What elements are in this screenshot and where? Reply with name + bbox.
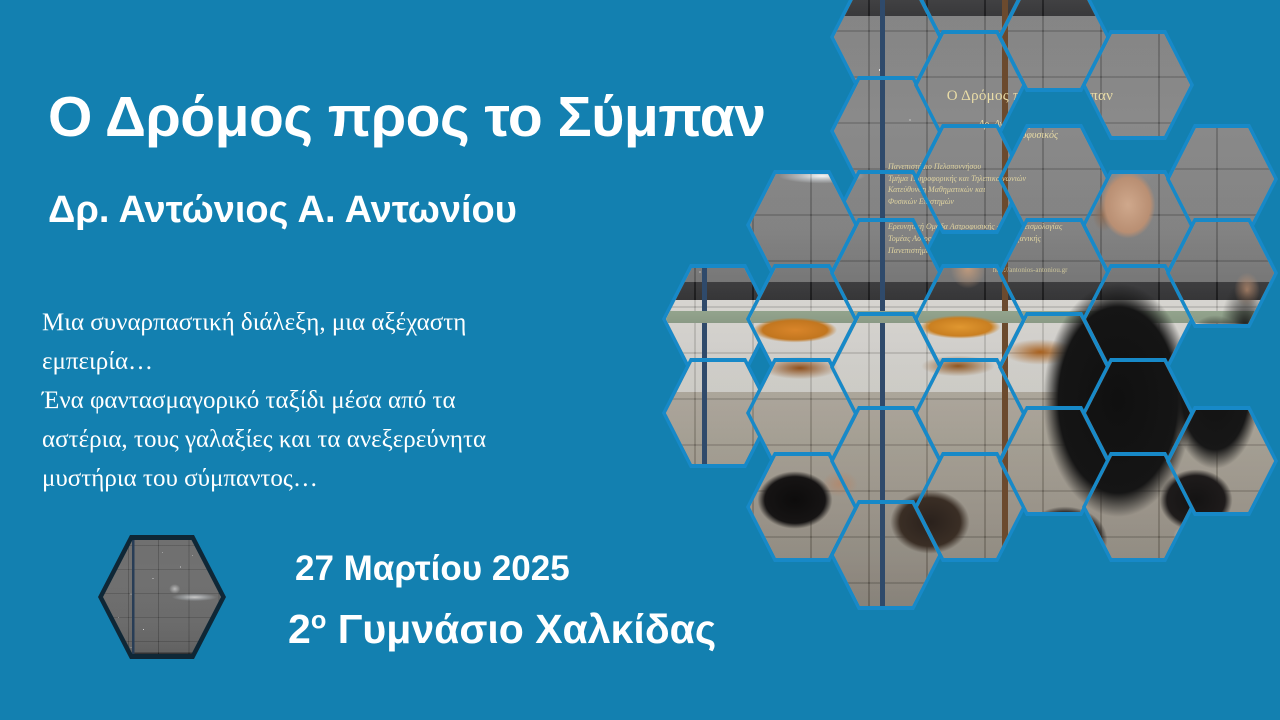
hex-photo-clip: Ο Δρόμος προς το ΣύμπανΔρ. Αντώνιος Α. Α…	[834, 316, 938, 418]
speaker-name: Δρ. Αντώνιος Α. Αντωνίου	[48, 190, 517, 232]
slide-affiliation-2: Ερευνητική Ομάδα Αστροφυσικής - Αστροσει…	[918, 221, 1022, 230]
hex-border	[1082, 264, 1194, 374]
hex-photo-clip: Ο Δρόμος προς το ΣύμπανΔρ. Αντώνιος Α. Α…	[834, 0, 938, 88]
slide-url: http://antonios-antoniou.gr	[1170, 266, 1180, 274]
hex-photo-image: Ο Δρόμος προς το ΣύμπανΔρ. Αντώνιος Α. Α…	[750, 174, 854, 276]
hex-photo-image: Ο Δρόμος προς το ΣύμπανΔρ. Αντώνιος Α. Α…	[750, 362, 854, 464]
projected-slide-text: Ο Δρόμος προς το ΣύμπανΔρ. Αντώνιος Α. Α…	[1170, 128, 1180, 230]
projected-slide-text: Ο Δρόμος προς το ΣύμπανΔρ. Αντώνιος Α. Α…	[918, 128, 1022, 230]
hex-photo-clip: Ο Δρόμος προς το ΣύμπανΔρ. Αντώνιος Α. Α…	[1002, 0, 1106, 88]
projected-slide-text: Ο Δρόμος προς το ΣύμπανΔρ. Αντώνιος Α. Α…	[1002, 222, 1106, 274]
hex-photo-clip: Ο Δρόμος προς το ΣύμπανΔρ. Αντώνιος Α. Α…	[1170, 410, 1274, 512]
slide-url: http://antonios-antoniou.gr	[918, 268, 1022, 274]
description-line-3: Ένα φαντασμαγορικό ταξίδι μέσα από τα	[42, 381, 602, 420]
projected-slide-text: Ο Δρόμος προς το ΣύμπανΔρ. Αντώνιος Α. Α…	[1170, 222, 1180, 274]
hex-photo-clip: Ο Δρόμος προς το ΣύμπανΔρ. Αντώνιος Α. Α…	[1002, 316, 1106, 418]
description-line-5: μυστήρια του σύμπαντος…	[42, 459, 602, 498]
tile-chair-orange-2: Ο Δρόμος προς το ΣύμπανΔρ. Αντώνιος Α. Α…	[830, 312, 942, 422]
slide-title: Ο Δρόμος προς το Σύμπαν	[1086, 88, 1180, 105]
hex-border	[998, 406, 1110, 516]
hex-border	[830, 76, 942, 186]
hex-photo-clip: Ο Δρόμος προς το ΣύμπανΔρ. Αντώνιος Α. Α…	[1002, 222, 1106, 324]
page-title: Ο Δρόμος προς το Σύμπαν	[48, 88, 688, 147]
hex-photo-image: Ο Δρόμος προς το ΣύμπανΔρ. Αντώνιος Α. Α…	[918, 268, 1022, 370]
hex-photo-image: Ο Δρόμος προς το ΣύμπανΔρ. Αντώνιος Α. Α…	[834, 222, 938, 324]
hex-photo-image: Ο Δρόμος προς το ΣύμπανΔρ. Αντώνιος Α. Α…	[1086, 268, 1190, 370]
description-paragraph: Μια συναρπαστική διάλεξη, μια αξέχαστη ε…	[42, 303, 602, 498]
slide-role: Αστροφυσικός	[1002, 130, 1106, 141]
slide-url: http://antonios-antoniou.gr	[1002, 266, 1106, 274]
hex-border	[830, 500, 942, 610]
hex-photo-image: Ο Δρόμος προς το ΣύμπανΔρ. Αντώνιος Α. Α…	[1170, 410, 1274, 512]
hex-border	[998, 124, 1110, 234]
hex-photo-clip: Ο Δρόμος προς το ΣύμπανΔρ. Αντώνιος Α. Α…	[1086, 174, 1190, 276]
tile-floor-mid: Ο Δρόμος προς το ΣύμπανΔρ. Αντώνιος Α. Α…	[914, 358, 1026, 468]
tile-floor-lower: Ο Δρόμος προς το ΣύμπανΔρ. Αντώνιος Α. Α…	[830, 406, 942, 516]
hex-border	[1082, 358, 1194, 468]
slide-affiliation: Πανεπιστήμιο Πελοποννήσου Τμήμα Πληροφορ…	[1170, 161, 1180, 207]
hex-photo-image: Ο Δρόμος προς το ΣύμπανΔρ. Αντώνιος Α. Α…	[1002, 410, 1106, 512]
slide-affiliation: Πανεπιστήμιο Πελοποννήσου Τμήμα Πληροφορ…	[1002, 161, 1106, 207]
hex-border	[830, 0, 942, 92]
hex-photo-image: Ο Δρόμος προς το ΣύμπανΔρ. Αντώνιος Α. Α…	[834, 0, 938, 88]
tile-presenter-head: Ο Δρόμος προς το ΣύμπανΔρ. Αντώνιος Α. Α…	[998, 124, 1110, 234]
hex-border	[746, 264, 858, 374]
hex-photo-image: Ο Δρόμος προς το ΣύμπανΔρ. Αντώνιος Α. Α…	[918, 456, 1022, 558]
projected-slide-text: Ο Δρόμος προς το ΣύμπανΔρ. Αντώνιος Α. Α…	[918, 268, 1022, 274]
tile-presenter-arm: Ο Δρόμος προς το ΣύμπανΔρ. Αντώνιος Α. Α…	[1082, 264, 1194, 374]
hex-photo-clip: Ο Δρόμος προς το ΣύμπανΔρ. Αντώνιος Α. Α…	[834, 80, 938, 182]
hex-border	[998, 312, 1110, 422]
hex-photo-image: Ο Δρόμος προς το ΣύμπανΔρ. Αντώνιος Α. Α…	[1086, 34, 1190, 136]
hex-border	[914, 264, 1026, 374]
hex-border	[998, 0, 1110, 92]
slide-role: Αστροφυσικός	[918, 130, 1022, 136]
poster-canvas: Ο Δρόμος προς το ΣύμπανΔρ. Αντώνιος Α. Α…	[0, 0, 1280, 720]
hex-photo-clip: Ο Δρόμος προς το ΣύμπανΔρ. Αντώνιος Α. Α…	[750, 268, 854, 370]
slide-url: http://antonios-antoniou.gr	[1086, 268, 1180, 274]
hex-photo-image: Ο Δρόμος προς το ΣύμπανΔρ. Αντώνιος Α. Α…	[1086, 362, 1190, 464]
hex-photo-image: Ο Δρόμος προς το ΣύμπανΔρ. Αντώνιος Α. Α…	[918, 34, 1022, 136]
hex-border	[746, 452, 858, 562]
hex-photo-clip: Ο Δρόμος προς το ΣύμπανΔρ. Αντώνιος Α. Α…	[1002, 410, 1106, 512]
hex-photo-clip: Ο Δρόμος προς το ΣύμπανΔρ. Αντώνιος Α. Α…	[1170, 128, 1274, 230]
hex-photo-clip: Ο Δρόμος προς το ΣύμπανΔρ. Αντώνιος Α. Α…	[834, 504, 938, 606]
hex-border	[1082, 30, 1194, 140]
tile-screen-top-left: Ο Δρόμος προς το ΣύμπανΔρ. Αντώνιος Α. Α…	[830, 0, 942, 92]
description-line-2: εμπειρία…	[42, 342, 602, 381]
badge-photo-image: Ο Δρόμος προς το ΣύμπανΔρ. Αντώνιος Α. Α…	[103, 540, 221, 654]
tile-chair-orange: Ο Δρόμος προς το ΣύμπανΔρ. Αντώνιος Α. Α…	[746, 358, 858, 468]
slide-author: Δρ. Αντώνιος Α. Αντωνίου	[918, 119, 1022, 130]
hex-photo-image: Ο Δρόμος προς το ΣύμπανΔρ. Αντώνιος Α. Α…	[750, 268, 854, 370]
slide-url: http://antonios-antoniou.gr	[1086, 266, 1180, 274]
slide-affiliation: Πανεπιστήμιο Πελοποννήσου Τμήμα Πληροφορ…	[880, 174, 938, 207]
tile-screen-top-right: Ο Δρόμος προς το ΣύμπανΔρ. Αντώνιος Α. Α…	[998, 0, 1110, 92]
hex-photo-image: Ο Δρόμος προς το ΣύμπανΔρ. Αντώνιος Α. Α…	[750, 456, 854, 558]
slide-url: http://antonios-antoniou.gr	[880, 266, 938, 274]
tile-wall-right: Ο Δρόμος προς το ΣύμπανΔρ. Αντώνιος Α. Α…	[1082, 30, 1194, 140]
slide-affiliation-2: Ερευνητική Ομάδα Αστροφυσικής - Αστροσει…	[1170, 221, 1180, 230]
hex-photo-image: Ο Δρόμος προς το ΣύμπανΔρ. Αντώνιος Α. Α…	[1002, 316, 1106, 418]
slide-role: Αστροφυσικός	[918, 130, 1022, 141]
hex-border	[914, 30, 1026, 140]
slide-role: Αστροφυσικός	[1086, 130, 1180, 136]
slide-author: Δρ. Αντώνιος Α. Αντωνίου	[1002, 128, 1106, 130]
projected-slide-text: Ο Δρόμος προς το ΣύμπανΔρ. Αντώνιος Α. Α…	[1086, 174, 1180, 274]
hex-photo-clip: Ο Δρόμος προς το ΣύμπανΔρ. Αντώνιος Α. Α…	[1002, 128, 1106, 230]
tile-student-mid: Ο Δρόμος προς το ΣύμπανΔρ. Αντώνιος Α. Α…	[914, 452, 1026, 562]
hex-photo-clip: Ο Δρόμος προς το ΣύμπανΔρ. Αντώνιος Α. Α…	[918, 0, 1022, 40]
hex-photo-clip: Ο Δρόμος προς το ΣύμπανΔρ. Αντώνιος Α. Α…	[1086, 268, 1190, 370]
tile-chairs-right: Ο Δρόμος προς το ΣύμπανΔρ. Αντώνιος Α. Α…	[914, 264, 1026, 374]
hex-photo-image: Ο Δρόμος προς το ΣύμπανΔρ. Αντώνιος Α. Α…	[834, 316, 938, 418]
projected-slide-text: Ο Δρόμος προς το ΣύμπανΔρ. Αντώνιος Α. Α…	[880, 222, 938, 274]
hex-border	[914, 0, 1026, 44]
hex-photo-image: Ο Δρόμος προς το ΣύμπανΔρ. Αντώνιος Α. Α…	[918, 128, 1022, 230]
hex-border	[830, 406, 942, 516]
hex-photo-image: Ο Δρόμος προς το ΣύμπανΔρ. Αντώνιος Α. Α…	[834, 504, 938, 606]
hex-border	[1166, 406, 1278, 516]
tile-student-dark: Ο Δρόμος προς το ΣύμπανΔρ. Αντώνιος Α. Α…	[998, 406, 1110, 516]
slide-affiliation: Πανεπιστήμιο Πελοποννήσου Τμήμα Πληροφορ…	[918, 161, 1022, 207]
tile-screen-top-mid: Ο Δρόμος προς το ΣύμπανΔρ. Αντώνιος Α. Α…	[914, 0, 1026, 44]
projected-slide-text: Ο Δρόμος προς το ΣύμπανΔρ. Αντώνιος Α. Α…	[880, 88, 938, 182]
projected-slide-text: Ο Δρόμος προς το ΣύμπανΔρ. Αντώνιος Α. Α…	[1086, 268, 1180, 274]
hex-photo-clip: Ο Δρόμος προς το ΣύμπανΔρ. Αντώνιος Α. Α…	[750, 456, 854, 558]
projected-slide-text: Ο Δρόμος προς το ΣύμπανΔρ. Αντώνιος Α. Α…	[1086, 88, 1180, 136]
tile-screen-bottom: Ο Δρόμος προς το ΣύμπανΔρ. Αντώνιος Α. Α…	[746, 264, 858, 374]
slide-title: Ο Δρόμος προς το Σύμπαν	[880, 88, 938, 105]
slide-author: Δρ. Αντώνιος Α. Αντωνίου	[918, 128, 1022, 130]
hex-border	[1082, 170, 1194, 280]
hex-border	[1082, 452, 1194, 562]
event-venue: 2ο Γυμνάσιο Χαλκίδας	[288, 606, 716, 653]
hex-photo-image: Ο Δρόμος προς το ΣύμπανΔρ. Αντώνιος Α. Α…	[1170, 222, 1274, 324]
tile-student-bottom: Ο Δρόμος προς το ΣύμπανΔρ. Αντώνιος Α. Α…	[830, 500, 942, 610]
hex-photo-image: Ο Δρόμος προς το ΣύμπανΔρ. Αντώνιος Α. Α…	[1170, 128, 1274, 230]
hex-border	[1166, 124, 1278, 234]
hex-photo-clip: Ο Δρόμος προς το ΣύμπανΔρ. Αντώνιος Α. Α…	[750, 362, 854, 464]
hex-photo-clip: Ο Δρόμος προς το ΣύμπανΔρ. Αντώνιος Α. Α…	[1086, 456, 1190, 558]
hex-photo-clip: Ο Δρόμος προς το ΣύμπανΔρ. Αντώνιος Α. Α…	[750, 174, 854, 276]
hex-photo-image: Ο Δρόμος προς το ΣύμπανΔρ. Αντώνιος Α. Α…	[918, 0, 1022, 40]
hex-photo-clip: Ο Δρόμος προς το ΣύμπανΔρ. Αντώνιος Α. Α…	[918, 128, 1022, 230]
hex-photo-image: Ο Δρόμος προς το ΣύμπανΔρ. Αντώνιος Α. Α…	[1002, 222, 1106, 324]
hex-border	[914, 452, 1026, 562]
hex-photo-image: Ο Δρόμος προς το ΣύμπανΔρ. Αντώνιος Α. Α…	[834, 174, 938, 276]
tile-slide-body: Ο Δρόμος προς το ΣύμπανΔρ. Αντώνιος Α. Α…	[914, 124, 1026, 234]
tile-chair-far-right: Ο Δρόμος προς το ΣύμπανΔρ. Αντώνιος Α. Α…	[1166, 406, 1278, 516]
hex-photo-clip: Ο Δρόμος προς το ΣύμπανΔρ. Αντώνιος Α. Α…	[1170, 222, 1274, 324]
tile-presenter-torso: Ο Δρόμος προς το ΣύμπανΔρ. Αντώνιος Α. Α…	[998, 218, 1110, 328]
hex-photo-image: Ο Δρόμος προς το ΣύμπανΔρ. Αντώνιος Α. Α…	[1002, 128, 1106, 230]
tile-edge-right-top: Ο Δρόμος προς το ΣύμπανΔρ. Αντώνιος Α. Α…	[1166, 124, 1278, 234]
hex-border	[830, 312, 942, 422]
badge-photo-clip: Ο Δρόμος προς το ΣύμπανΔρ. Αντώνιος Α. Α…	[103, 540, 221, 654]
hex-photo-clip: Ο Δρόμος προς το ΣύμπανΔρ. Αντώνιος Α. Α…	[918, 34, 1022, 136]
tile-starfield-far-left: Ο Δρόμος προς το ΣύμπανΔρ. Αντώνιος Α. Α…	[746, 170, 858, 280]
hex-photo-clip: Ο Δρόμος προς το ΣύμπανΔρ. Αντώνιος Α. Α…	[834, 222, 938, 324]
slide-affiliation-2: Ερευνητική Ομάδα Αστροφυσικής - Αστροσει…	[1002, 222, 1106, 256]
hex-border	[830, 170, 942, 280]
hex-border	[746, 170, 858, 280]
slide-role: Αστροφυσικός	[1170, 130, 1180, 141]
slide-affiliation-2: Ερευνητική Ομάδα Αστροφυσικής - Αστροσει…	[1170, 222, 1180, 256]
projected-slide-text: Ο Δρόμος προς το ΣύμπανΔρ. Αντώνιος Α. Α…	[880, 174, 938, 274]
projected-slide-text: Ο Δρόμος προς το ΣύμπανΔρ. Αντώνιος Α. Α…	[918, 88, 1022, 136]
slide-affiliation: Πανεπιστήμιο Πελοποννήσου Τμήμα Πληροφορ…	[1086, 174, 1180, 207]
slide-affiliation-2: Ερευνητική Ομάδα Αστροφυσικής - Αστροσει…	[1002, 221, 1106, 230]
venue-ordinal-suffix: ο	[311, 606, 327, 634]
hex-border	[914, 358, 1026, 468]
hex-border	[830, 218, 942, 328]
hex-photo-image: Ο Δρόμος προς το ΣύμπανΔρ. Αντώνιος Α. Α…	[1086, 174, 1190, 276]
projected-slide-text: Ο Δρόμος προς το ΣύμπανΔρ. Αντώνιος Α. Α…	[1002, 128, 1106, 230]
event-date: 27 Μαρτίου 2025	[295, 549, 570, 589]
tile-wall-right-2: Ο Δρόμος προς το ΣύμπανΔρ. Αντώνιος Α. Α…	[1082, 170, 1194, 280]
slide-author: Δρ. Αντώνιος Α. Αντωνίου	[1170, 128, 1180, 130]
hex-border	[998, 218, 1110, 328]
hex-photo-clip: Ο Δρόμος προς το ΣύμπανΔρ. Αντώνιος Α. Α…	[834, 174, 938, 276]
hex-photo-clip: Ο Δρόμος προς το ΣύμπανΔρ. Αντώνιος Α. Α…	[918, 268, 1022, 370]
slide-affiliation-2: Ερευνητική Ομάδα Αστροφυσικής - Αστροσει…	[1086, 221, 1180, 256]
tile-starfield-left: Ο Δρόμος προς το ΣύμπανΔρ. Αντώνιος Α. Α…	[830, 76, 942, 186]
hex-photo-image: Ο Δρόμος προς το ΣύμπανΔρ. Αντώνιος Α. Α…	[1086, 456, 1190, 558]
hex-photo-clip: Ο Δρόμος προς το ΣύμπανΔρ. Αντώνιος Α. Α…	[1086, 362, 1190, 464]
hex-photo-clip: Ο Δρόμος προς το ΣύμπανΔρ. Αντώνιος Α. Α…	[918, 362, 1022, 464]
tile-presenter-lower-2: Ο Δρόμος προς το ΣύμπανΔρ. Αντώνιος Α. Α…	[1082, 358, 1194, 468]
venue-name: Γυμνάσιο Χαλκίδας	[326, 606, 716, 652]
slide-affiliation-2: Ερευνητική Ομάδα Αστροφυσικής - Αστροσει…	[880, 222, 938, 256]
hex-photo-clip: Ο Δρόμος προς το ΣύμπανΔρ. Αντώνιος Α. Α…	[918, 456, 1022, 558]
hex-photo-clip: Ο Δρόμος προς το ΣύμπανΔρ. Αντώνιος Α. Α…	[834, 410, 938, 512]
hex-photo-image: Ο Δρόμος προς το ΣύμπανΔρ. Αντώνιος Α. Α…	[1002, 0, 1106, 88]
hex-photo-image: Ο Δρόμος προς το ΣύμπανΔρ. Αντώνιος Α. Α…	[918, 362, 1022, 464]
tile-chairs-mid: Ο Δρόμος προς το ΣύμπανΔρ. Αντώνιος Α. Α…	[830, 218, 942, 328]
tile-edge-right-bot: Ο Δρόμος προς το ΣύμπανΔρ. Αντώνιος Α. Α…	[1166, 218, 1278, 328]
slide-title: Ο Δρόμος προς το Σύμπαν	[918, 88, 1022, 105]
hex-photo-image: Ο Δρόμος προς το ΣύμπανΔρ. Αντώνιος Α. Α…	[834, 80, 938, 182]
hex-border	[914, 124, 1026, 234]
slide-affiliation-2: Ερευνητική Ομάδα Αστροφυσικής - Αστροσει…	[880, 221, 938, 256]
hex-border	[746, 358, 858, 468]
tile-student-blue: Ο Δρόμος προς το ΣύμπανΔρ. Αντώνιος Α. Α…	[1082, 452, 1194, 562]
slide-role: Αστροφυσικός	[880, 130, 938, 141]
hex-border	[1166, 218, 1278, 328]
hex-photo-clip: Ο Δρόμος προς το ΣύμπανΔρ. Αντώνιος Α. Α…	[1086, 34, 1190, 136]
slide-url: http://antonios-antoniou.gr	[880, 266, 938, 274]
tile-galaxy: Ο Δρόμος προς το ΣύμπανΔρ. Αντώνιος Α. Α…	[830, 170, 942, 280]
tile-presenter-lower: Ο Δρόμος προς το ΣύμπανΔρ. Αντώνιος Α. Α…	[998, 312, 1110, 422]
tile-student-left: Ο Δρόμος προς το ΣύμπανΔρ. Αντώνιος Α. Α…	[746, 452, 858, 562]
slide-affiliation: Πανεπιστήμιο Πελοποννήσου Τμήμα Πληροφορ…	[880, 161, 938, 182]
slide-author: Δρ. Αντώνιος Α. Αντωνίου	[1086, 119, 1180, 130]
tile-slide-title: Ο Δρόμος προς το ΣύμπανΔρ. Αντώνιος Α. Α…	[914, 30, 1026, 140]
venue-ordinal-number: 2	[288, 606, 311, 652]
slide-author: Δρ. Αντώνιος Α. Αντωνίου	[880, 119, 938, 130]
hex-photo-image: Ο Δρόμος προς το ΣύμπανΔρ. Αντώνιος Α. Α…	[834, 410, 938, 512]
description-line-4: αστέρια, τους γαλαξίες και τα ανεξερεύνη…	[42, 420, 602, 459]
description-line-1: Μια συναρπαστική διάλεξη, μια αξέχαστη	[42, 303, 602, 342]
